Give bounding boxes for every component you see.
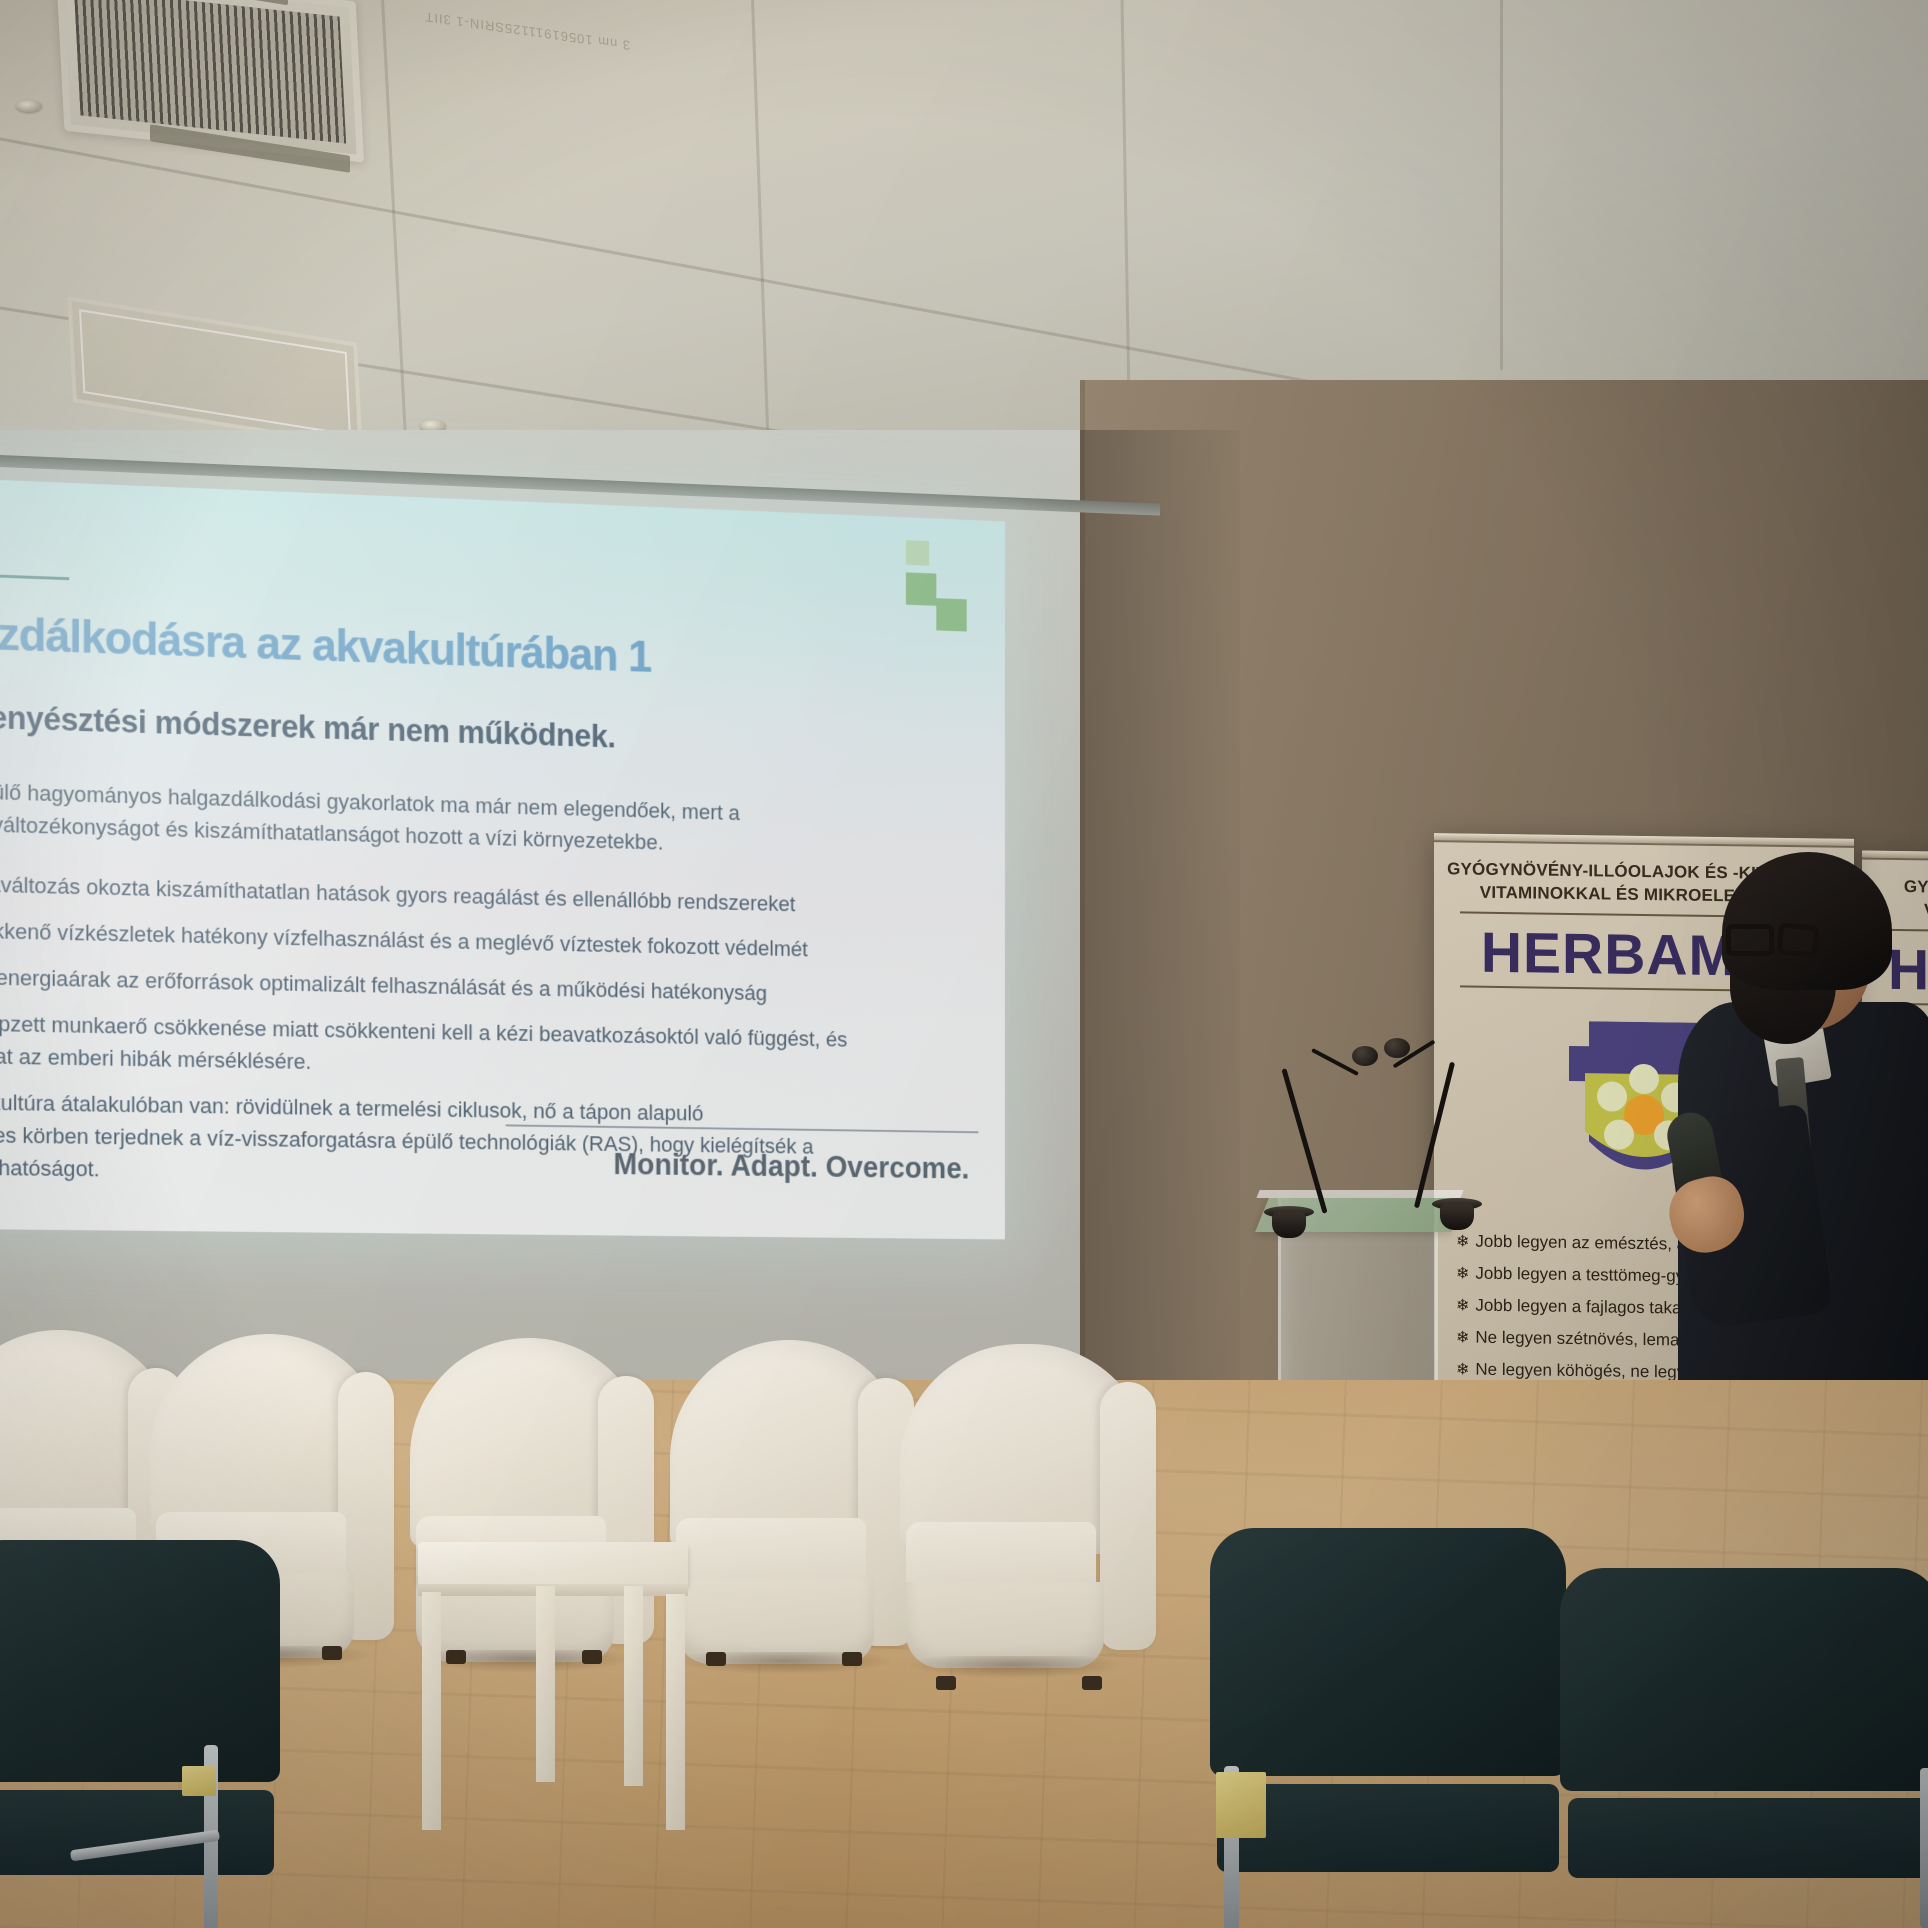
wall-shadow (1080, 430, 1240, 1430)
slide-body-line: iség: A csökkenő vízkészletek hatékony v… (0, 916, 808, 961)
slide-title: vízgazdálkodásra az akvakultúrában 1 (0, 602, 989, 694)
ceiling-tile-line (750, 0, 769, 440)
slide-subtitle: os haltenyésztési módszerek már nem műkö… (0, 695, 989, 766)
flower-bullet-icon: ❄ (1456, 1361, 1469, 1378)
glasses-lens (1726, 924, 1774, 956)
slide-footer: Monitor. Adapt. Overcome. (506, 1146, 979, 1187)
banner-top-rail (1862, 850, 1928, 862)
chair-tag (1216, 1772, 1266, 1838)
glasses-lens (1777, 923, 1819, 958)
smoke-detector-icon (16, 100, 42, 112)
chair-arm (1100, 1382, 1156, 1650)
slide-body-line: tás: A klímaváltozás okozta kiszámíthata… (0, 870, 795, 916)
presenter-hair (1722, 852, 1892, 990)
table-leg (666, 1594, 685, 1830)
stacking-chair[interactable] (0, 1540, 280, 1928)
flower-bullet-icon: ❄ (1456, 1329, 1469, 1346)
tub-chair[interactable] (900, 1344, 1150, 1694)
flower-bullet-icon: ❄ (1456, 1233, 1469, 1250)
slide-body-line: a: Az akvakultúra átalakulóban van: rövi… (0, 1089, 703, 1126)
mic-base (1272, 1212, 1306, 1238)
chair-frame (1920, 1768, 1928, 1928)
conference-room-photo: 3 nm 10561911125SRIN-1 3IIT ise vízgazdá… (0, 0, 1928, 1928)
table-leg (536, 1586, 555, 1782)
slide-accent-square (906, 540, 929, 566)
projection-screen: ise vízgazdálkodásra az akvakultúrában 1… (0, 466, 1005, 1239)
chair-seat (1217, 1784, 1559, 1872)
table-leg (624, 1586, 643, 1786)
chair-tag (182, 1766, 216, 1796)
chair-seat (0, 1790, 274, 1876)
table-top (418, 1542, 688, 1586)
chair-foot (936, 1676, 956, 1690)
slide-body-line: k a fenntarthatóságot. (0, 1154, 100, 1181)
flower-bullet-icon: ❄ (1456, 1265, 1469, 1282)
chair-back (0, 1540, 280, 1782)
slide-body-line: folyamatokat az emberi hibák mérséklésér… (0, 1042, 311, 1074)
slide-logo-underline (0, 570, 69, 580)
table-leg (422, 1592, 441, 1830)
slide-body: őrzésre épülő hagyományos halgazdálkodás… (0, 773, 944, 1209)
presentation-slide: ise vízgazdálkodásra az akvakultúrában 1… (0, 466, 1005, 1239)
chair-shadow (680, 1652, 890, 1674)
ceiling-tile-line (1500, 0, 1503, 370)
mic-head-icon (1352, 1046, 1378, 1066)
mic-head-icon (1384, 1038, 1410, 1058)
chair-seat (1568, 1798, 1928, 1877)
ceiling-printed-label: 3 nm 10561911125SRIN-1 3IIT (330, 0, 630, 53)
slide-accent-square (906, 572, 936, 605)
stacking-chair[interactable] (1210, 1528, 1566, 1928)
slide-body-line: k: A szakképzett munkaerő csökkenése mia… (0, 1009, 847, 1051)
chair-foot (1082, 1676, 1102, 1690)
side-table[interactable] (418, 1542, 688, 1832)
chair-back (1210, 1528, 1566, 1776)
ceiling-tile-line (380, 0, 407, 439)
chair-back (1560, 1568, 1928, 1791)
tub-chair[interactable] (670, 1340, 908, 1670)
ceiling-access-hatch (67, 296, 362, 448)
glasses-icon (1726, 924, 1838, 958)
lectern-top-edge (1256, 1190, 1463, 1198)
flower-bullet-icon: ❄ (1456, 1297, 1469, 1314)
slide-body-line: A növekvő energiaárak az erőforrások opt… (0, 963, 767, 1005)
chair-shadow (910, 1656, 1120, 1678)
slide-accent-square (936, 598, 966, 631)
mic-base (1440, 1204, 1474, 1230)
stacking-chair[interactable] (1560, 1568, 1928, 1928)
